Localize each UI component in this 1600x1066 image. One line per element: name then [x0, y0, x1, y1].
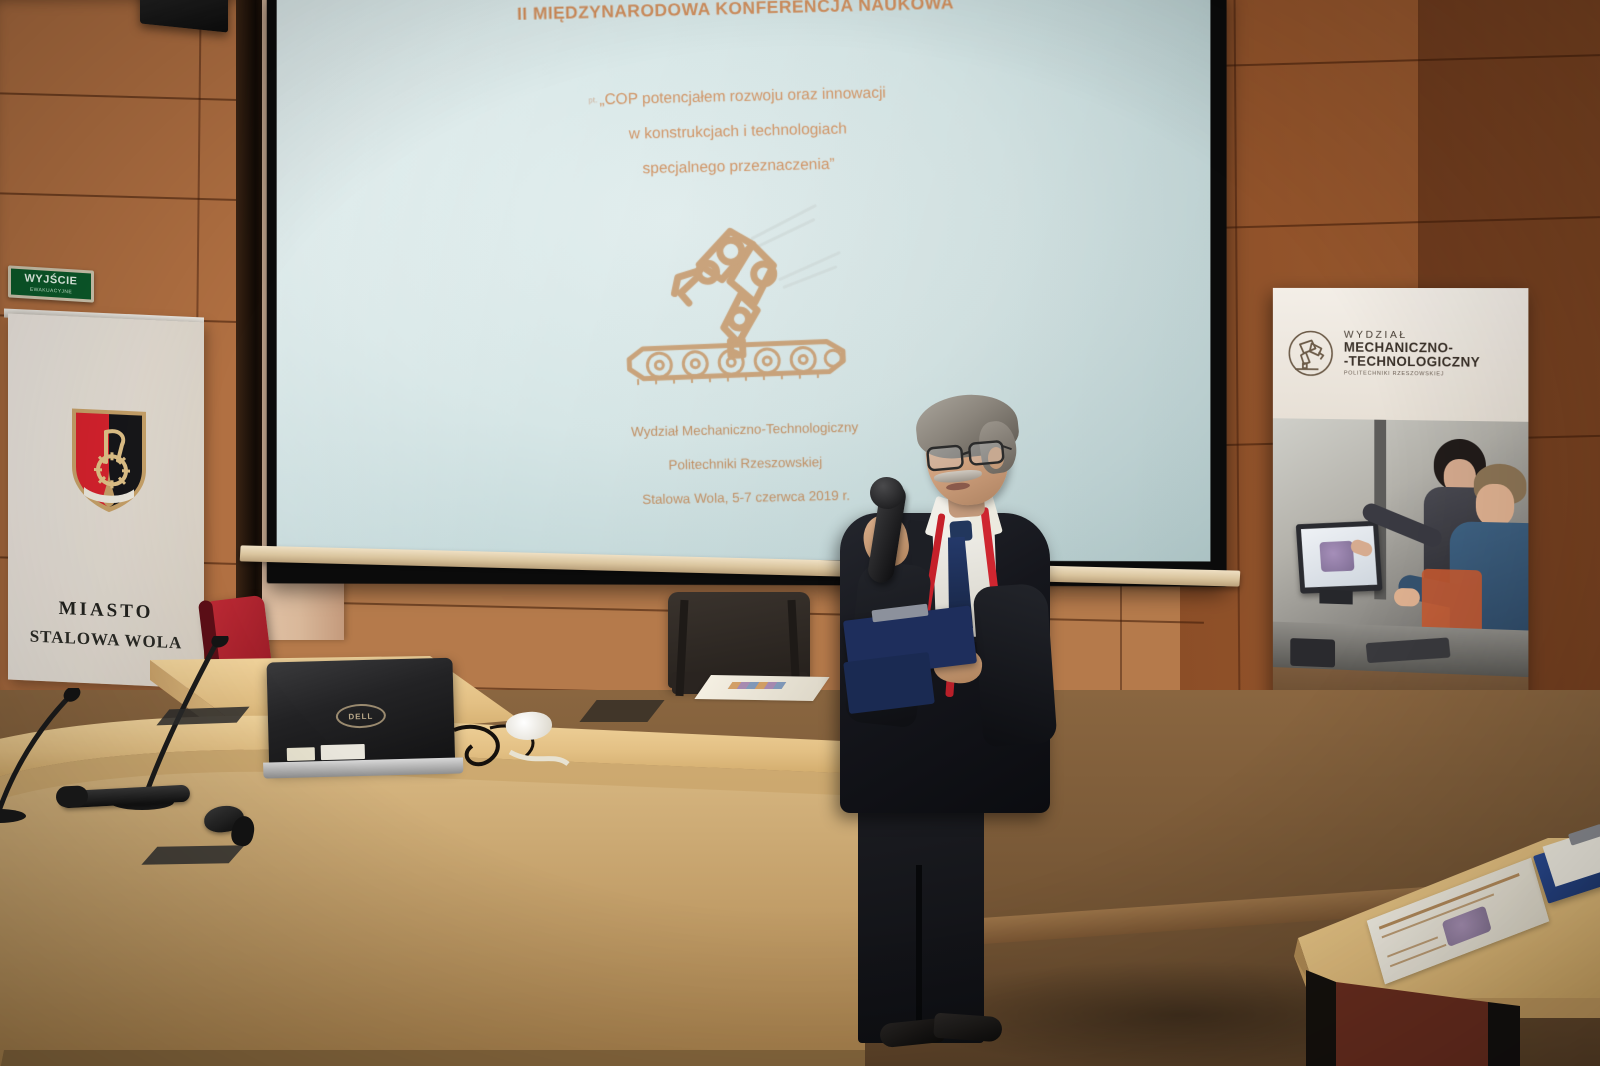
right-banner-line3: -TECHNOLOGICZNY — [1344, 355, 1480, 370]
conference-room-photo: WYJŚCIE EWAKUACYJNE II MIĘDZYNARODOWA KO… — [0, 0, 1600, 1066]
exit-sign-line1: WYJŚCIE — [24, 273, 77, 287]
stalowa-wola-coat-of-arms-icon — [66, 402, 152, 518]
paper-on-counter — [141, 845, 244, 864]
slide-title: II MIĘDZYNARODOWA KONFERENCJA NAUKOWA — [277, 0, 1205, 31]
slide-footer-line3: Stalowa Wola, 5-7 czerwca 2019 r. — [282, 480, 1211, 514]
photo-phone — [1290, 638, 1335, 667]
program-sheet-lines — [1387, 936, 1438, 957]
slide-subtitle-line1-text: „COP potencjałem rozwoju oraz innowacji — [599, 84, 886, 108]
laptop-brand-label: DELL — [348, 711, 373, 721]
speaker-shoe-right — [933, 1013, 1003, 1043]
speaker-arm-folder — [973, 583, 1058, 748]
emergency-exit-sign: WYJŚCIE EWAKUACYJNE — [8, 265, 94, 302]
foreground-desk — [1258, 830, 1600, 1066]
photo-cad-model — [1319, 541, 1354, 572]
slide-footer-line2: Politechniki Rzeszowskiej — [281, 446, 1211, 480]
exit-sign-line2: EWAKUACYJNE — [30, 286, 72, 295]
projection-screen: II MIĘDZYNARODOWA KONFERENCJA NAUKOWA pt… — [277, 0, 1211, 561]
slide-subtitle-line1: pt.„COP potencjałem rozwoju oraz innowac… — [277, 76, 1207, 117]
dell-laptop[interactable]: DELL — [266, 658, 459, 783]
robotic-arm-on-tracked-vehicle-icon — [601, 190, 868, 390]
folder-lower-part — [843, 652, 935, 714]
speaker-person — [830, 395, 1070, 1055]
presentation-slide: II MIĘDZYNARODOWA KONFERENCJA NAUKOWA pt… — [277, 0, 1211, 561]
wmt-robot-arm-logo-icon — [1286, 328, 1335, 378]
right-banner-line4: POLITECHNIKI RZESZOWSKIEJ — [1344, 372, 1480, 379]
slide-pt-prefix: pt. — [588, 96, 597, 105]
photo-monitor-stand — [1319, 590, 1352, 605]
photo-man-hand — [1394, 588, 1420, 607]
slide-subtitle-line2: w konstrukcjach i technologiach — [277, 112, 1208, 153]
photo-man-face — [1476, 484, 1514, 527]
laptop-sticker-2 — [321, 744, 365, 760]
slide-footer-line1: Wydział Mechaniczno-Technologiczny — [280, 412, 1210, 447]
program-paper-color-strip — [728, 682, 787, 689]
photo-monitor — [1296, 521, 1383, 594]
right-banner-photo — [1273, 418, 1529, 677]
paper-on-podium — [156, 707, 249, 726]
right-banner-header: WYDZIAŁ MECHANICZNO- -TECHNOLOGICZNY POL… — [1273, 288, 1529, 422]
program-sheet-lines — [1390, 944, 1447, 967]
left-banner-line1: MIASTO — [8, 596, 204, 627]
right-banner-text: WYDZIAŁ MECHANICZNO- -TECHNOLOGICZNY POL… — [1344, 330, 1480, 379]
projection-screen-frame: II MIĘDZYNARODOWA KONFERENCJA NAUKOWA pt… — [267, 0, 1227, 587]
left-banner: MIASTO STALOWA WOLA — [8, 314, 204, 689]
handheld-microphone-head — [55, 785, 88, 808]
speaker-leg-split — [916, 865, 922, 1043]
slide-subtitle-line3: specjalnego przeznaczenia” — [277, 147, 1208, 187]
podium-desk: DELL — [0, 650, 880, 1066]
laptop-sticker-1 — [287, 747, 315, 761]
photo-monitor-screen — [1301, 526, 1377, 588]
